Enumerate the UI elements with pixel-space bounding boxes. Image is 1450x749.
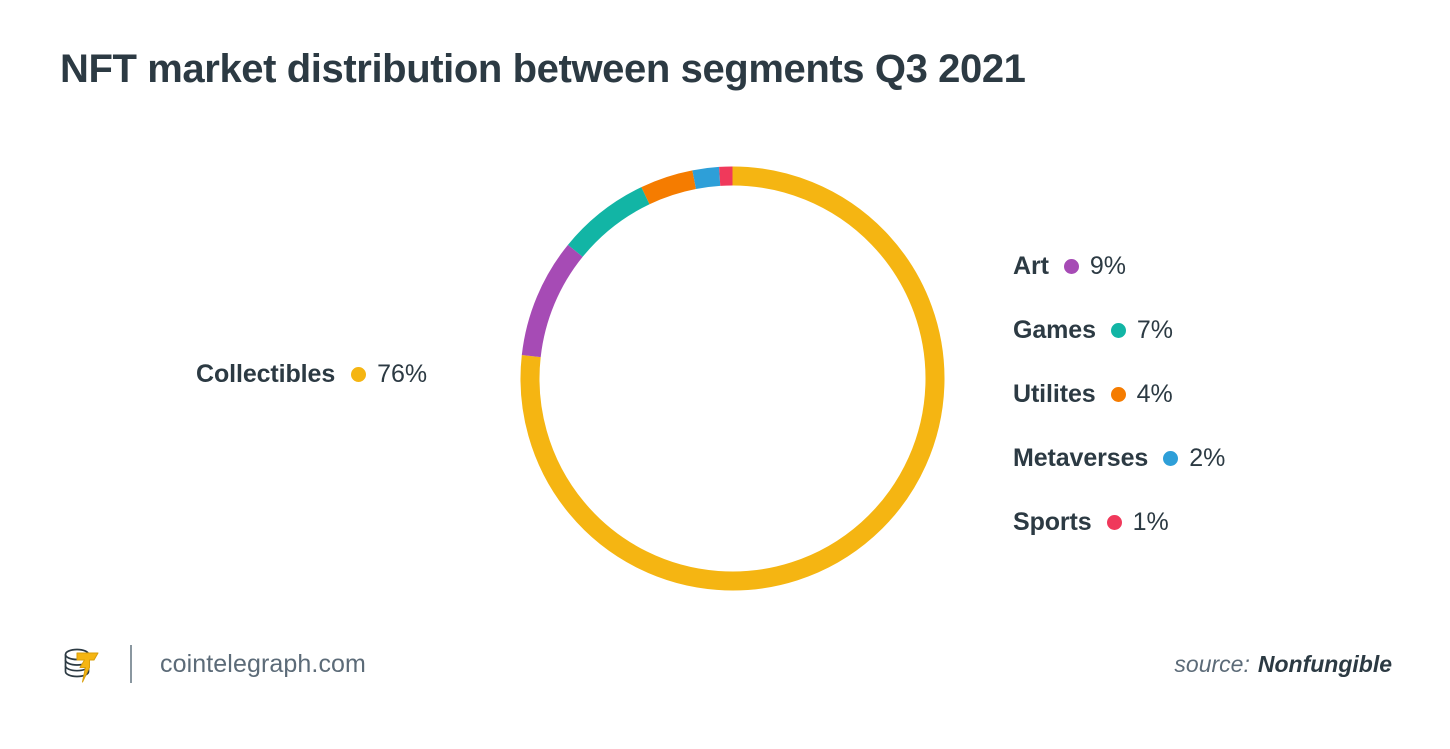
legend-item-value: 4% [1137,380,1173,409]
legend-dot-icon [1111,387,1126,402]
chart-legend: Art9%Games7%Utilites4%Metaverses2%Sports… [1013,234,1225,554]
legend-dot-icon [1163,451,1178,466]
donut-slice-games[interactable] [575,196,645,251]
legend-item-label: Art [1013,252,1049,281]
footer-url[interactable]: cointelegraph.com [160,650,366,679]
donut-chart-svg [520,166,945,591]
donut-slice-metaverses[interactable] [694,176,719,179]
legend-item-games[interactable]: Games7% [1013,298,1225,362]
chart-canvas: NFT market distribution between segments… [0,0,1450,749]
legend-item-value: 1% [1133,508,1169,537]
source-label: source: [1174,651,1249,678]
legend-item-value: 2% [1189,444,1225,473]
slice-label-name: Collectibles [196,360,335,389]
slice-label-value: 76% [377,360,427,389]
cointelegraph-coin-stack-logo-icon [58,641,104,687]
legend-dot-icon [351,367,366,382]
legend-item-label: Metaverses [1013,444,1148,473]
footer-source: source: Nonfungible [1174,632,1392,696]
legend-item-sports[interactable]: Sports1% [1013,490,1225,554]
donut-slice-art[interactable] [531,251,575,356]
donut-slice-utilites[interactable] [645,180,694,196]
donut-chart [520,166,945,591]
footer-brand: cointelegraph.com [58,632,366,696]
donut-slice-group [530,176,935,581]
page-title: NFT market distribution between segments… [60,47,1026,92]
legend-item-art[interactable]: Art9% [1013,234,1225,298]
footer-divider [130,645,132,683]
slice-label-collectibles: Collectibles 76% [196,360,427,389]
legend-item-label: Utilites [1013,380,1096,409]
legend-dot-icon [1111,323,1126,338]
footer: cointelegraph.com source: Nonfungible [0,632,1450,702]
legend-dot-icon [1107,515,1122,530]
legend-item-value: 9% [1090,252,1126,281]
legend-item-label: Games [1013,316,1096,345]
legend-item-value: 7% [1137,316,1173,345]
source-name: Nonfungible [1258,651,1392,678]
legend-item-metaverses[interactable]: Metaverses2% [1013,426,1225,490]
legend-dot-icon [1064,259,1079,274]
legend-item-label: Sports [1013,508,1092,537]
legend-item-utilites[interactable]: Utilites4% [1013,362,1225,426]
